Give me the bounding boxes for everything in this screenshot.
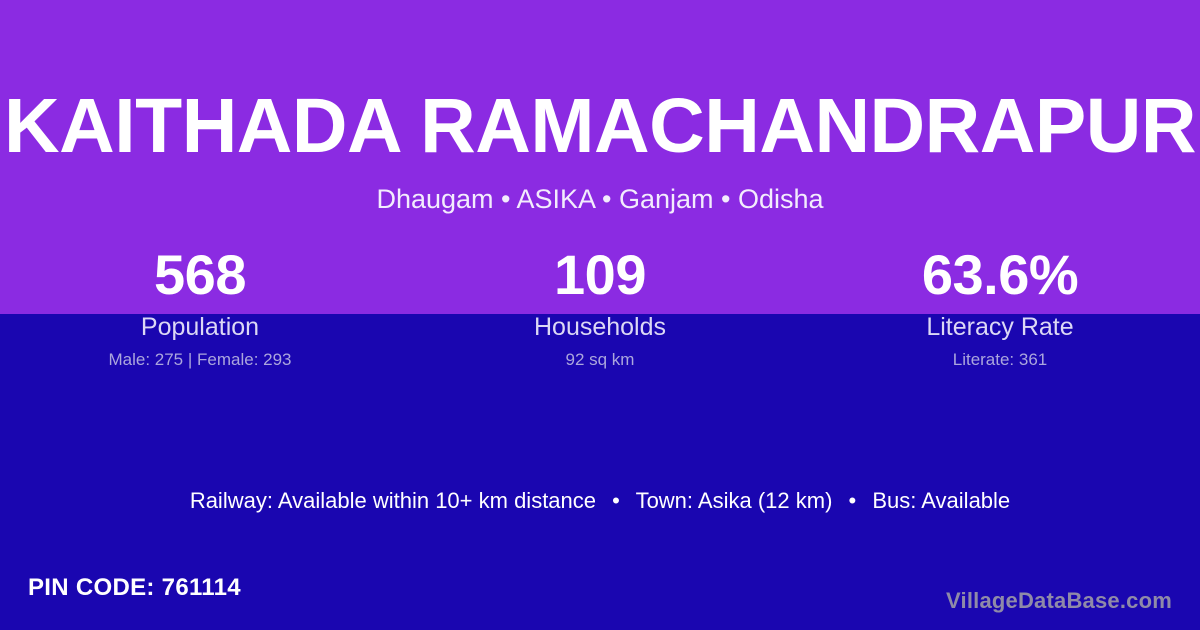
facilities-line: Railway: Available within 10+ km distanc… xyxy=(0,485,1200,517)
stats-row: 568 Population Male: 275 | Female: 293 1… xyxy=(0,244,1200,372)
stat-households-area: 92 sq km xyxy=(400,348,800,372)
site-brand-watermark: VillageDataBase.com xyxy=(946,586,1172,616)
facility-railway: Railway: Available within 10+ km distanc… xyxy=(190,488,596,513)
stat-population: 568 Population Male: 275 | Female: 293 xyxy=(0,244,400,372)
stat-population-breakdown: Male: 275 | Female: 293 xyxy=(0,348,400,372)
facility-separator-icon: • xyxy=(839,488,867,513)
stat-literacy: 63.6% Literacy Rate Literate: 361 xyxy=(800,244,1200,372)
page-title: KAITHADA RAMACHANDRAPUR xyxy=(4,80,1196,172)
stat-literacy-label: Literacy Rate xyxy=(800,310,1200,344)
stat-households-label: Households xyxy=(400,310,800,344)
facility-separator-icon: • xyxy=(602,488,630,513)
stat-literacy-count: Literate: 361 xyxy=(800,348,1200,372)
stat-households-value: 109 xyxy=(400,244,800,306)
facility-town: Town: Asika (12 km) xyxy=(636,488,833,513)
stat-households: 109 Households 92 sq km xyxy=(400,244,800,372)
stat-literacy-value: 63.6% xyxy=(800,244,1200,306)
facility-bus: Bus: Available xyxy=(872,488,1010,513)
stat-population-label: Population xyxy=(0,310,400,344)
breadcrumb: Dhaugam • ASIKA • Ganjam • Odisha xyxy=(0,181,1200,217)
stat-population-value: 568 xyxy=(0,244,400,306)
pin-code-label: PIN CODE: 761114 xyxy=(28,572,241,604)
